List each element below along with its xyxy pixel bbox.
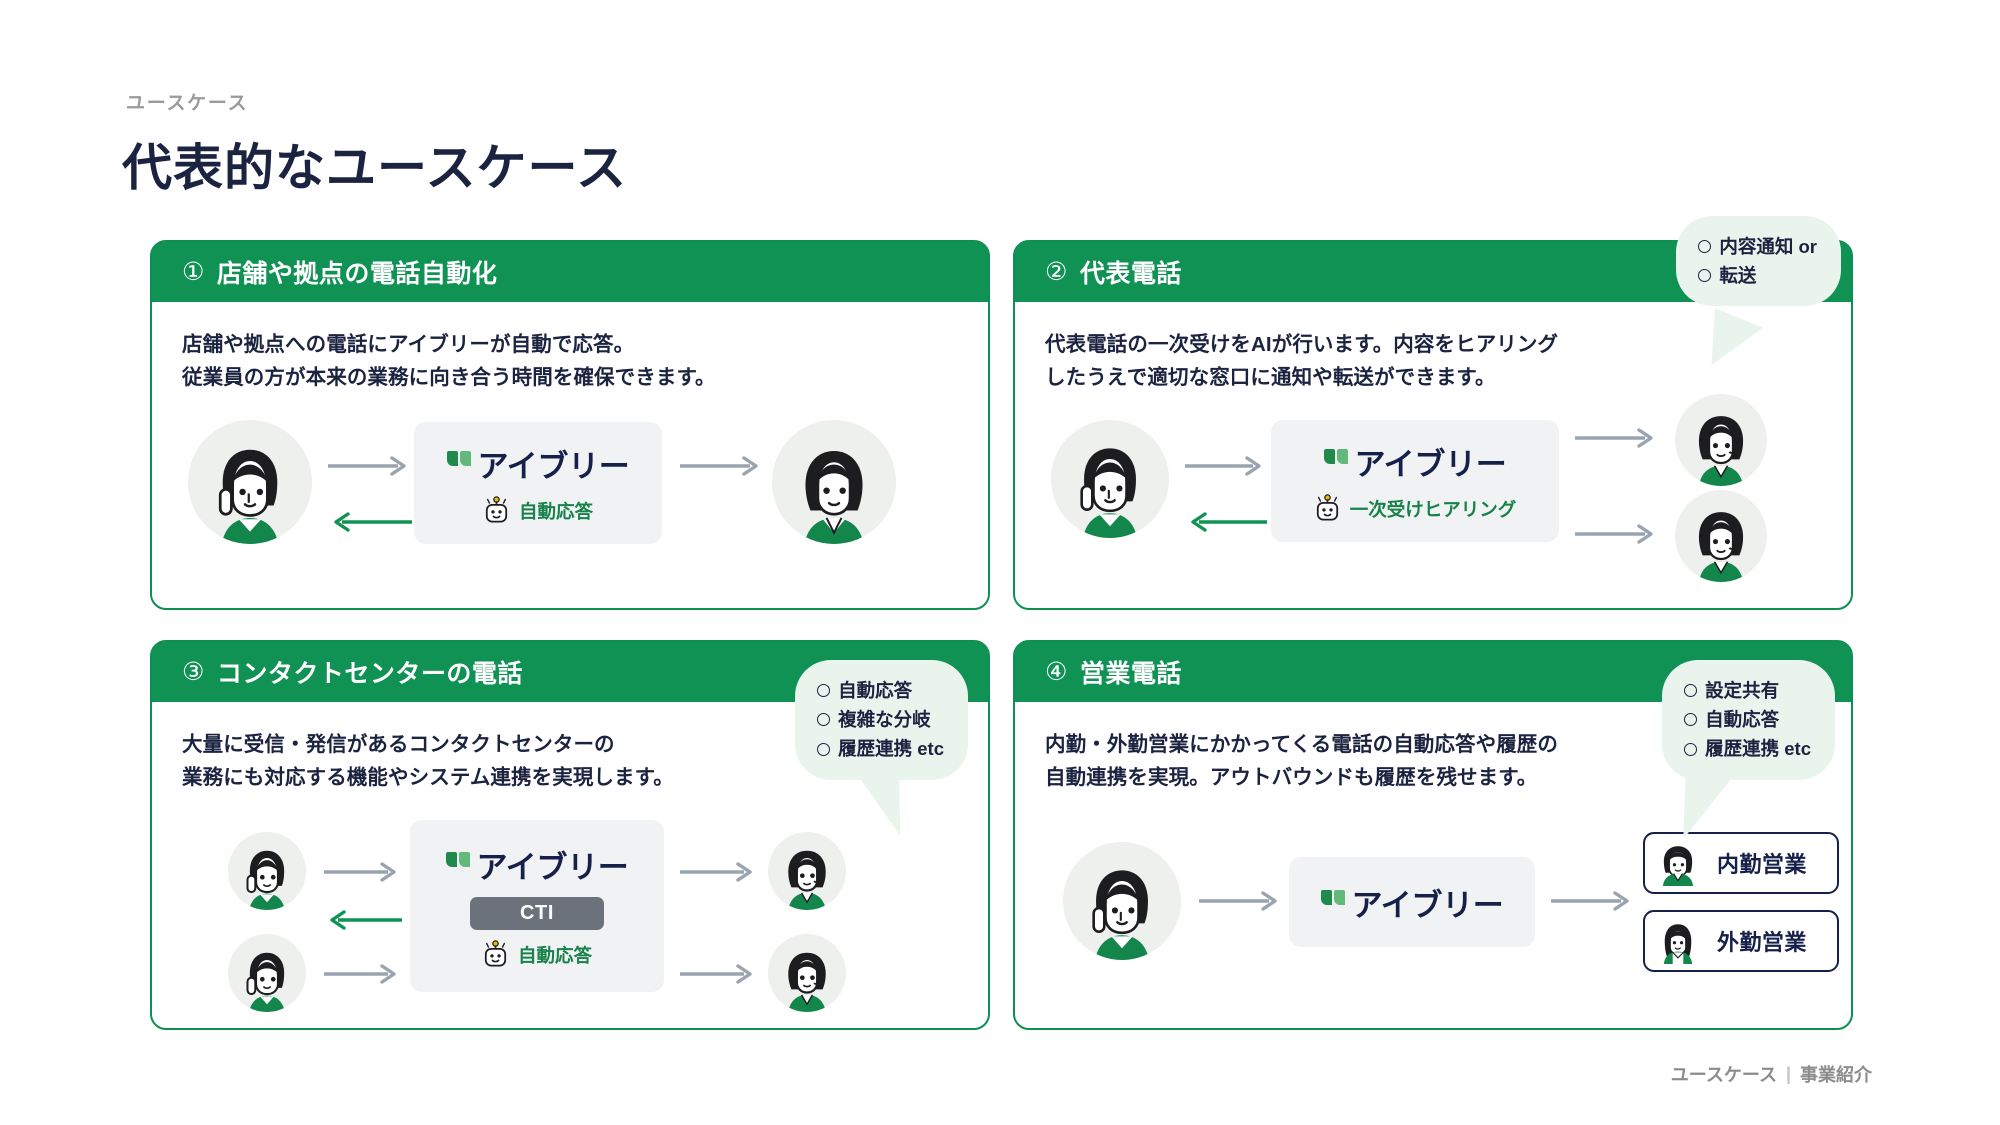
bullet-ring-icon [817,743,830,756]
ivry-service-box-2: アイブリー 一次受けヒアリング [1271,420,1559,542]
footer: ユースケース | 事業紹介 [1671,1061,1872,1087]
ivry-tag-row-3: 自動応答 [482,940,592,970]
usecase-card-2: ② 代表電話 代表電話の一次受けをAIが行います。内容をヒアリング したうえで適… [1013,240,1853,610]
role-box-field-sales: 外勤営業 [1643,910,1839,972]
card-4-callout-bubble: 設定共有 自動応答 履歴連携 etc [1662,660,1835,780]
ivry-tag-row-1: 自動応答 [483,496,593,526]
bubble-item: 複雑な分岐 [817,705,944,734]
caller-avatar-illustration [188,420,312,544]
slide-root: ユースケース 代表的なユースケース ① 店舗や拠点の電話自動化 店舗や拠点への電… [0,0,2000,1125]
bullet-ring-icon [1684,684,1697,697]
usecase-card-3: ③ コンタクトセンターの電話 大量に受信・発信があるコンタクトセンターの 業務に… [150,640,990,1030]
card-3-callout-bubble: 自動応答 複雑な分岐 履歴連携 etc [795,660,968,780]
ivry-service-box-3: アイブリー CTI 自動応答 [410,820,664,992]
operator-avatar-illustration [768,934,846,1012]
bubble-item-label: 履歴連携 etc [1705,734,1811,763]
arrow-caller-to-ivry [328,456,412,476]
ivry-wordmark-4: アイブリー [1352,880,1504,925]
operator-avatar-illustration [768,832,846,910]
caller-avatar-2 [228,934,306,1012]
bubble-item-label: 自動応答 [838,676,912,705]
bullet-ring-icon [1698,240,1711,253]
arrow-ivry-to-sales [1551,891,1635,911]
ivry-logo-3: アイブリー [446,842,629,887]
ivry-leaf-icon [1321,890,1345,905]
bubble-item: 内容通知 or [1698,232,1817,261]
caller-avatar [1063,842,1181,960]
card-1-diagram: アイブリー 自動応答 [152,242,988,608]
ivry-tag-label-1: 自動応答 [519,498,593,524]
footer-section-label: ユースケース [1671,1061,1777,1087]
bullet-ring-icon [817,713,830,726]
role-label-field-sales: 外勤営業 [1717,925,1807,957]
robot-icon [482,940,509,970]
usecase-card-1: ① 店舗や拠点の電話自動化 店舗や拠点への電話にアイブリーが自動で応答。 従業員… [150,240,990,610]
ivry-logo-1: アイブリー [447,441,630,486]
ivry-service-box-4: アイブリー [1289,857,1535,947]
card-2-callout-bubble: 内容通知 or 転送 [1676,216,1841,306]
bubble-item-label: 複雑な分岐 [838,705,931,734]
ivry-tag-row-2: 一次受けヒアリング [1314,494,1517,524]
cti-badge: CTI [470,897,604,930]
agent-avatar-2 [1675,490,1767,582]
ivry-wordmark-2: アイブリー [1355,439,1507,484]
ivry-tag-label-3: 自動応答 [518,942,592,968]
agent-avatar-illustration [1675,490,1767,582]
inside-sales-avatar-icon [1651,840,1705,886]
caller-avatar [188,420,312,544]
bubble-item: 設定共有 [1684,676,1811,705]
usecase-card-4: ④ 営業電話 内勤・外勤営業にかかってくる電話の自動応答や履歴の 自動連携を実現… [1013,640,1853,1030]
bubble-item: 履歴連携 etc [817,734,944,763]
arrow-ivry-to-operator-2 [680,964,758,984]
bullet-ring-icon [1698,269,1711,282]
operator-avatar-1 [768,832,846,910]
bubble-item-label: 履歴連携 etc [838,734,944,763]
agent-avatar-illustration [1675,394,1767,486]
bullet-ring-icon [817,684,830,697]
arrow-ivry-to-caller [1185,512,1267,532]
bubble-item-label: 転送 [1719,261,1756,290]
arrow-caller-to-ivry [1199,891,1283,911]
caller-avatar-illustration [228,832,306,910]
footer-deck-label: 事業紹介 [1800,1061,1872,1087]
footer-separator: | [1786,1064,1791,1085]
bubble-item-label: 設定共有 [1705,676,1779,705]
page-title: 代表的なユースケース [122,128,627,200]
robot-icon [483,496,510,526]
caller-avatar-1 [228,832,306,910]
role-label-inside-sales: 内勤営業 [1717,847,1807,879]
operator-avatar-2 [768,934,846,1012]
role-box-inside-sales: 内勤営業 [1643,832,1839,894]
bubble-item-label: 内容通知 or [1719,232,1817,261]
ivry-leaf-icon [446,852,470,867]
arrow-ivry-to-operator-1 [680,862,758,882]
arrow-ivry-to-staff [680,456,764,476]
caller-avatar-illustration [1063,842,1181,960]
ivry-service-box-1: アイブリー 自動応答 [414,422,662,544]
ivry-wordmark-3: アイブリー [477,842,629,887]
ivry-leaf-icon [447,451,471,466]
bullet-ring-icon [1684,743,1697,756]
eyebrow-label: ユースケース [126,88,248,115]
ivry-wordmark-1: アイブリー [478,441,630,486]
arrow-caller2-to-ivry [324,964,402,984]
bubble-item-label: 自動応答 [1705,705,1779,734]
caller-avatar-illustration [228,934,306,1012]
bubble-item: 自動応答 [1684,705,1811,734]
ivry-logo-4: アイブリー [1321,880,1504,925]
agent-avatar-1 [1675,394,1767,486]
bubble-item: 転送 [1698,261,1817,290]
arrow-ivry-to-agent-1 [1575,428,1659,448]
bubble-item: 履歴連携 etc [1684,734,1811,763]
robot-icon [1314,494,1341,524]
ivry-tag-label-2: 一次受けヒアリング [1350,496,1517,522]
bubble-item: 自動応答 [817,676,944,705]
caller-avatar-illustration [1051,420,1169,538]
arrow-caller-to-ivry [1185,456,1267,476]
arrow-ivry-to-caller [324,910,402,930]
bullet-ring-icon [1684,713,1697,726]
field-sales-avatar-icon [1651,918,1705,964]
staff-avatar [772,420,896,544]
staff-avatar-illustration [772,420,896,544]
caller-avatar [1051,420,1169,538]
arrow-ivry-to-caller [328,512,412,532]
arrow-caller1-to-ivry [324,862,402,882]
arrow-ivry-to-agent-2 [1575,524,1659,544]
ivry-logo-2: アイブリー [1324,439,1507,484]
ivry-leaf-icon [1324,449,1348,464]
